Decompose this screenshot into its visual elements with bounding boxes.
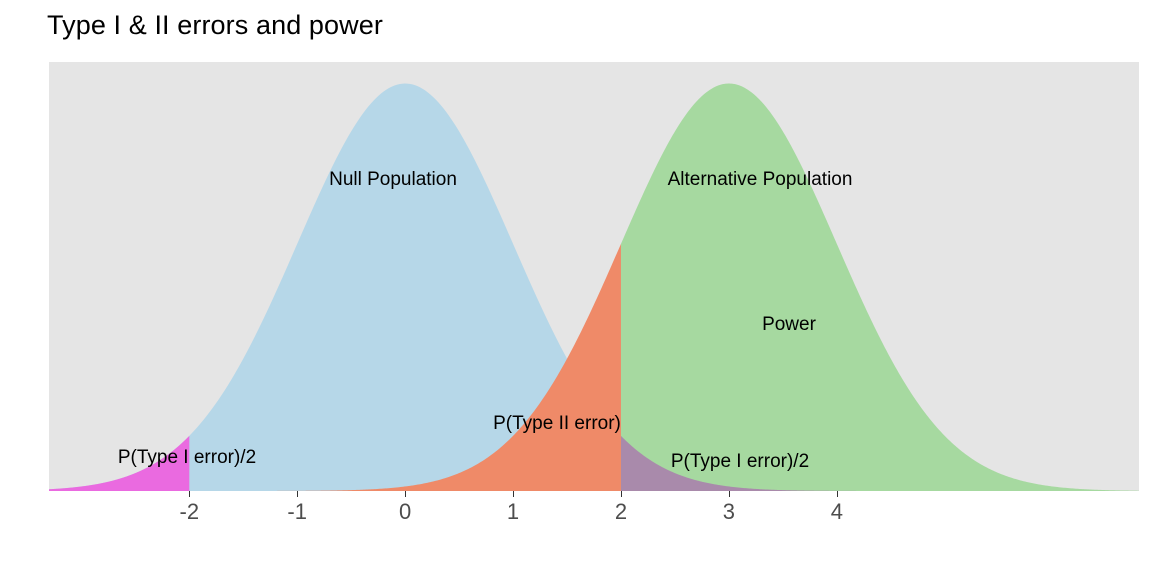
page-title: Type I & II errors and power [47,10,383,41]
x-tick-label-6: 4 [831,499,843,525]
x-tick-mark-1 [297,491,298,497]
x-tick-mark-2 [405,491,406,497]
figure-container: Type I & II errors and power Null Popula… [0,0,1152,576]
x-tick-label-3: 1 [507,499,519,525]
x-axis: -2-101234 [49,491,1139,541]
x-tick-label-5: 3 [723,499,735,525]
x-tick-label-4: 2 [615,499,627,525]
x-tick-label-1: -1 [287,499,307,525]
x-tick-mark-0 [189,491,190,497]
x-tick-mark-3 [513,491,514,497]
x-tick-mark-5 [729,491,730,497]
x-tick-mark-6 [837,491,838,497]
distribution-plot [49,62,1139,491]
x-tick-label-2: 0 [399,499,411,525]
x-tick-mark-4 [621,491,622,497]
x-tick-label-0: -2 [180,499,200,525]
plot-panel [49,62,1139,491]
